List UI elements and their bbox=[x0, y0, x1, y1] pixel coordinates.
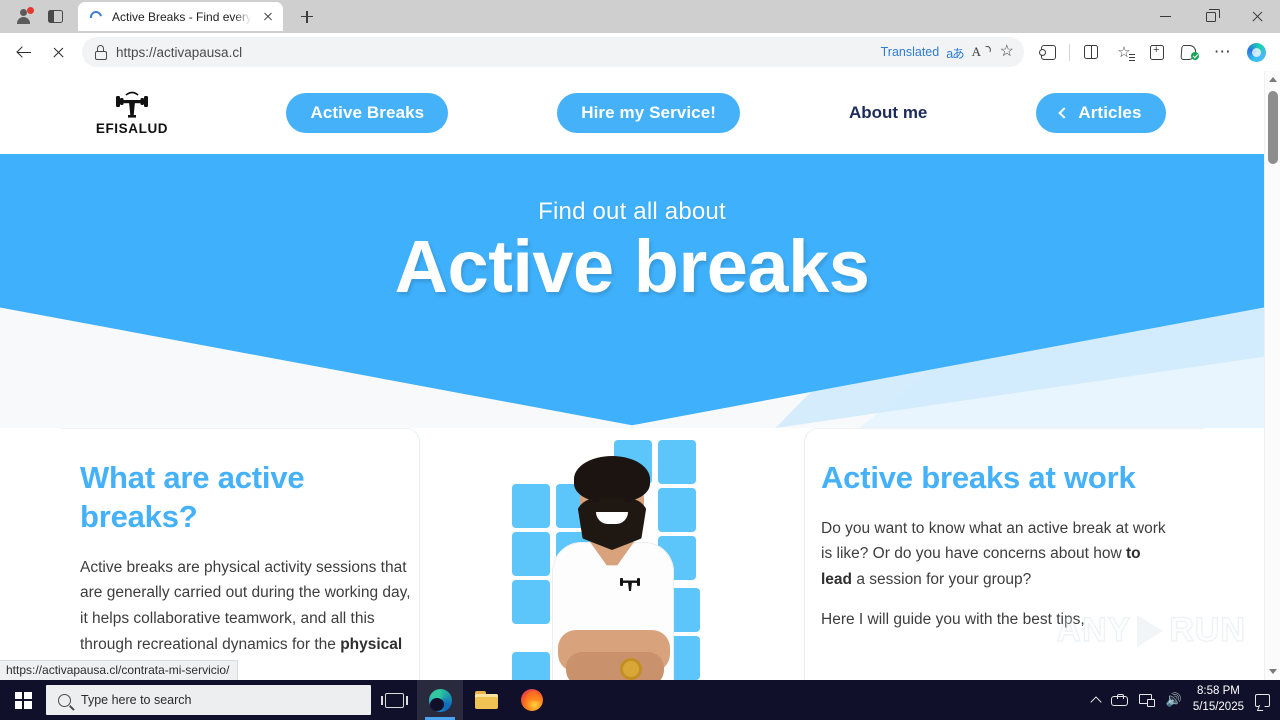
url-text: https://activapausa.cl bbox=[116, 45, 873, 60]
translated-label[interactable]: Translated bbox=[881, 45, 940, 59]
firefox-icon bbox=[521, 689, 543, 711]
browser-essentials-button[interactable] bbox=[1174, 37, 1206, 67]
windows-start-icon bbox=[15, 692, 32, 709]
clock[interactable]: 8:58 PM 5/15/2025 bbox=[1193, 684, 1244, 715]
card-active-breaks-at-work: Active breaks at work Do you want to kno… bbox=[804, 428, 1204, 680]
card-paragraph-2: Here I will guide you with the best tips… bbox=[821, 607, 1169, 633]
search-icon bbox=[58, 694, 71, 707]
person-illustration bbox=[546, 462, 678, 680]
nav-label: Hire my Service! bbox=[581, 103, 716, 123]
favorite-star-icon[interactable]: ☆ bbox=[1000, 44, 1014, 60]
nav-item-hire-my-service[interactable]: Hire my Service! bbox=[557, 93, 740, 133]
taskbar-search-box[interactable]: Type here to search bbox=[46, 685, 371, 715]
arrow-left-icon bbox=[17, 45, 32, 60]
onedrive-icon[interactable] bbox=[1111, 694, 1128, 706]
shirt-logo-icon bbox=[620, 574, 640, 596]
nav-label: Active Breaks bbox=[310, 103, 424, 123]
favorites-icon: ☆ bbox=[1117, 43, 1130, 61]
center-media bbox=[420, 428, 804, 680]
chevron-left-icon bbox=[1059, 107, 1070, 118]
nav-item-about-me[interactable]: About me bbox=[849, 103, 927, 123]
file-explorer-icon bbox=[475, 691, 498, 709]
card-heading: What are active breaks? bbox=[80, 459, 400, 537]
copilot-icon bbox=[1247, 43, 1266, 62]
start-button[interactable] bbox=[0, 680, 46, 720]
maximize-icon bbox=[1206, 12, 1216, 22]
system-tray: 🔊 8:58 PM 5/15/2025 bbox=[1092, 684, 1280, 715]
show-hidden-icons-icon[interactable] bbox=[1090, 696, 1101, 707]
browser-toolbar: https://activapausa.cl Translated aあ ☆ ☆… bbox=[0, 33, 1280, 71]
back-button[interactable] bbox=[8, 37, 40, 67]
toolbar-icons: ☆ ⋯ bbox=[1032, 37, 1272, 67]
nav-item-articles[interactable]: Articles bbox=[1036, 93, 1165, 133]
stop-button[interactable] bbox=[42, 37, 74, 67]
scroll-up-icon[interactable] bbox=[1265, 71, 1280, 88]
collections-icon bbox=[1150, 45, 1164, 60]
hero-title: Active breaks bbox=[0, 228, 1264, 306]
hero-text: Find out all about Active breaks bbox=[0, 154, 1264, 306]
site-brand[interactable]: EFISALUD bbox=[52, 89, 212, 136]
close-button[interactable] bbox=[1234, 0, 1280, 33]
address-bar-actions: Translated aあ ☆ bbox=[881, 41, 1020, 63]
new-tab-button[interactable] bbox=[293, 3, 321, 31]
search-placeholder: Type here to search bbox=[81, 693, 191, 707]
split-screen-icon bbox=[1084, 45, 1098, 59]
profile-button[interactable] bbox=[8, 3, 38, 31]
link-status-bar: https://activapausa.cl/contrata-mi-servi… bbox=[0, 660, 238, 680]
clock-time: 8:58 PM bbox=[1197, 685, 1240, 697]
nav-label: About me bbox=[849, 103, 927, 122]
browser-essentials-icon bbox=[1181, 44, 1199, 60]
favorites-button[interactable]: ☆ bbox=[1108, 37, 1140, 67]
speaker-icon[interactable]: 🔊 bbox=[1166, 692, 1182, 708]
translate-icon[interactable]: aあ bbox=[946, 43, 963, 62]
site-header: EFISALUD Active Breaks Hire my Service! … bbox=[0, 71, 1264, 154]
content-section: What are active breaks? Active breaks ar… bbox=[0, 428, 1264, 680]
paragraph-text: Do you want to know what an active break… bbox=[821, 520, 1166, 563]
maximize-button[interactable] bbox=[1188, 0, 1234, 33]
nav-item-active-breaks[interactable]: Active Breaks bbox=[286, 93, 448, 133]
lock-icon bbox=[94, 45, 108, 60]
taskbar-app-file-explorer[interactable] bbox=[463, 680, 509, 720]
brand-name: EFISALUD bbox=[96, 121, 168, 136]
hero-kicker: Find out all about bbox=[0, 198, 1264, 226]
network-icon[interactable] bbox=[1139, 694, 1155, 707]
card-paragraph: Do you want to know what an active break… bbox=[821, 516, 1169, 593]
tab-title: Active Breaks - Find everything y bbox=[112, 10, 251, 24]
browser-tab[interactable]: Active Breaks - Find everything y bbox=[78, 2, 283, 31]
clock-date: 5/15/2025 bbox=[1193, 701, 1244, 713]
copilot-button[interactable] bbox=[1240, 37, 1272, 67]
dumbbell-icon bbox=[115, 89, 149, 119]
ellipsis-icon: ⋯ bbox=[1214, 48, 1233, 56]
extensions-button[interactable] bbox=[1032, 37, 1064, 67]
settings-and-more-button[interactable]: ⋯ bbox=[1207, 37, 1239, 67]
extensions-icon bbox=[1041, 45, 1056, 60]
site-nav: Active Breaks Hire my Service! About me … bbox=[212, 93, 1240, 133]
action-center-icon[interactable] bbox=[1255, 694, 1270, 707]
toolbar-divider bbox=[1069, 44, 1070, 61]
scroll-down-icon[interactable] bbox=[1265, 663, 1280, 680]
windows-taskbar: Type here to search 🔊 8:58 PM 5/15/2025 bbox=[0, 680, 1280, 720]
tab-actions-button[interactable] bbox=[40, 3, 70, 31]
taskbar-app-edge[interactable] bbox=[417, 680, 463, 720]
stop-icon bbox=[52, 46, 65, 59]
address-bar[interactable]: https://activapausa.cl Translated aあ ☆ bbox=[82, 37, 1024, 67]
microsoft-edge-icon bbox=[429, 689, 452, 712]
taskbar-app-firefox[interactable] bbox=[509, 680, 555, 720]
browser-window: Active Breaks - Find everything y https:… bbox=[0, 0, 1280, 680]
tab-close-icon[interactable] bbox=[259, 8, 277, 26]
trainer-photo bbox=[512, 440, 712, 680]
profile-alert-badge bbox=[27, 7, 34, 14]
web-page: EFISALUD Active Breaks Hire my Service! … bbox=[0, 71, 1264, 680]
page-viewport: EFISALUD Active Breaks Hire my Service! … bbox=[0, 71, 1280, 680]
minimize-button[interactable] bbox=[1142, 0, 1188, 33]
split-screen-button[interactable] bbox=[1075, 37, 1107, 67]
hero-banner: Find out all about Active breaks bbox=[0, 154, 1264, 428]
loading-spinner-icon bbox=[88, 9, 104, 25]
vertical-tabs-icon bbox=[48, 10, 63, 23]
task-view-button[interactable] bbox=[371, 680, 417, 720]
card-heading: Active breaks at work bbox=[821, 459, 1141, 498]
minimize-icon bbox=[1160, 16, 1171, 17]
page-scrollbar[interactable] bbox=[1264, 71, 1280, 680]
window-controls bbox=[1142, 0, 1280, 33]
task-view-icon bbox=[385, 693, 404, 708]
nav-label: Articles bbox=[1078, 103, 1141, 123]
close-icon bbox=[1251, 10, 1264, 23]
titlebar-left-controls: Active Breaks - Find everything y bbox=[0, 0, 321, 33]
read-aloud-icon[interactable] bbox=[971, 41, 993, 63]
browser-titlebar: Active Breaks - Find everything y bbox=[0, 0, 1280, 33]
paragraph-tail: a session for your group? bbox=[852, 571, 1031, 588]
scrollbar-thumb[interactable] bbox=[1268, 91, 1278, 164]
collections-button[interactable] bbox=[1141, 37, 1173, 67]
card-what-are-active-breaks: What are active breaks? Active breaks ar… bbox=[60, 428, 420, 680]
